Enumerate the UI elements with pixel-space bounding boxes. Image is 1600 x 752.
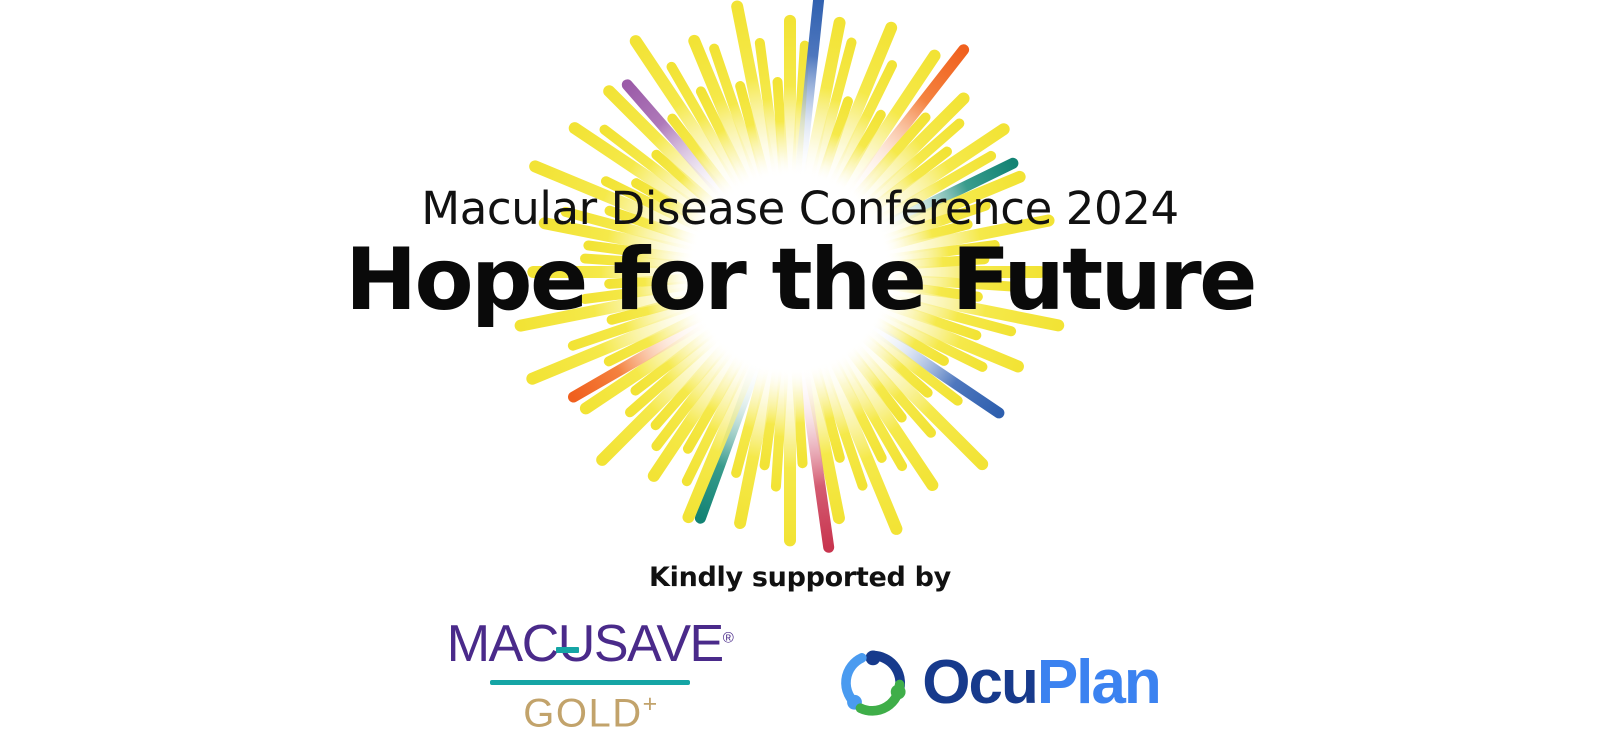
sunburst-ray (858, 340, 982, 464)
sunburst-ray (832, 358, 881, 458)
conference-poster: Macular Disease Conference 2024 Hope for… (0, 0, 1600, 752)
sponsor-logo-ocuplan[interactable]: OcuPlan (836, 612, 1160, 738)
sunburst-ray (827, 361, 897, 529)
sunburst-ray (832, 65, 892, 186)
macu-save-tier-plus: + (643, 690, 658, 718)
sunburst-ray (862, 335, 927, 392)
sunburst-ray (736, 365, 765, 473)
sunburst-ray (737, 6, 771, 177)
sunburst-ray (760, 43, 778, 177)
registered-trademark-icon: ® (723, 630, 734, 647)
sunburst-accent-ray (800, 0, 819, 177)
sunburst-ray (765, 367, 778, 465)
sunburst-ray (687, 358, 748, 481)
macu-save-teal-rule (490, 680, 690, 685)
sunburst-ray (827, 28, 891, 184)
sunburst-ray (809, 366, 839, 518)
sunburst-accent-ray (849, 50, 964, 197)
macu-save-tier: GOLD+ (440, 692, 740, 733)
ocuplan-word-light: Plan (1037, 648, 1160, 717)
sunburst-ray (740, 366, 771, 523)
macu-save-tier-label: GOLD (523, 691, 642, 735)
sunburst-ray (796, 46, 805, 177)
macu-save-teal-dash (556, 647, 579, 653)
sunburst-ray (672, 67, 742, 189)
ocuplan-word-dark: Ocu (922, 648, 1037, 717)
conference-name: Macular Disease Conference 2024 (0, 186, 1600, 231)
sunburst-ray (838, 115, 881, 189)
sunburst-accent-ray (870, 326, 999, 413)
sunburst-ray (843, 56, 934, 193)
sunburst-ray (776, 368, 784, 487)
sunburst-ray (630, 335, 718, 412)
sunburst-accent-ray (803, 367, 828, 547)
sunburst-ray (866, 330, 958, 400)
macu-save-wordmark: MACUSAVE® (440, 618, 740, 670)
sunburst-ray (838, 355, 902, 466)
sunburst-ray (656, 348, 731, 446)
sunburst-ray (656, 344, 727, 425)
sunburst-accent-ray (700, 362, 757, 518)
sunburst-ray (796, 368, 802, 463)
sunburst-ray (635, 330, 713, 390)
sunburst-ray (848, 348, 901, 417)
macu-save-word-right: SAVE (594, 615, 723, 673)
sunburst-ray (586, 325, 710, 408)
sunburst-ray (853, 344, 931, 433)
sunburst-ray (714, 49, 759, 181)
sponsor-logo-macu-save[interactable]: MACUSAVE® GOLD+ (440, 612, 740, 748)
sunburst-ray (740, 86, 765, 179)
page-title: Hope for the Future (0, 237, 1600, 325)
sunburst-ray (636, 41, 737, 192)
sunburst-accent-ray (573, 320, 706, 397)
sunburst-ray (815, 43, 852, 180)
sunburst-ray (688, 355, 742, 449)
hero-headline: Macular Disease Conference 2024 Hope for… (0, 186, 1600, 325)
sunburst-ray (654, 352, 737, 476)
sunburst-ray (815, 365, 840, 458)
sunburst-ray (778, 82, 784, 176)
ocuplan-wordmark: OcuPlan (922, 652, 1160, 714)
sunburst-ray (701, 91, 748, 186)
sunburst-ray (694, 41, 753, 183)
sunburst-ray (809, 23, 840, 178)
sunburst-ray (821, 363, 863, 486)
sponsor-logo-row: MACUSAVE® GOLD+ (0, 612, 1600, 752)
sunburst-ray (688, 361, 753, 517)
sunburst-ray (602, 340, 722, 460)
sunburst-ray (821, 101, 848, 181)
sunburst-ray (843, 352, 932, 485)
ocuplan-people-circle-icon (836, 646, 910, 720)
macu-save-word-left: MACU (447, 615, 594, 673)
supporters-heading: Kindly supported by (0, 562, 1600, 593)
